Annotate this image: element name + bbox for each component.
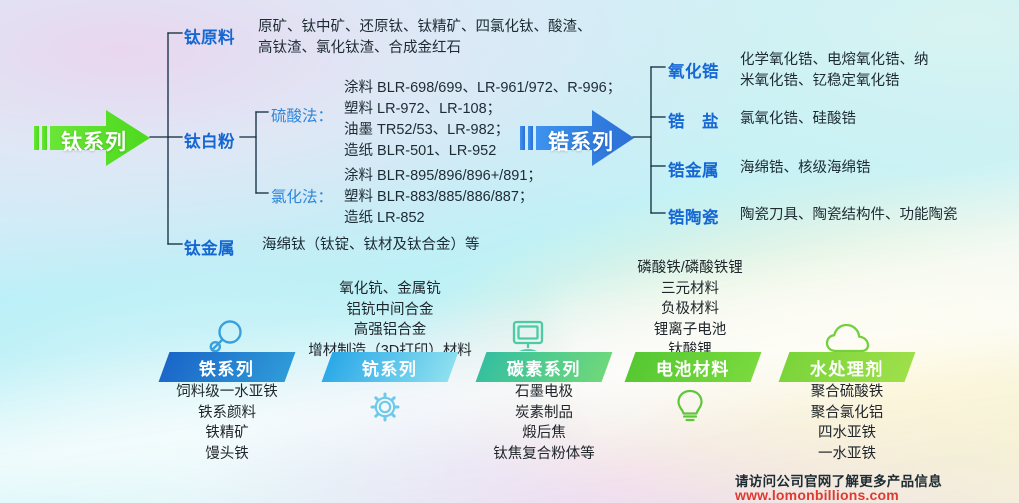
chip-carbon-series[interactable]: 碳素系列: [476, 352, 613, 382]
branch-label-zirconium-ceramics: 锆陶瓷: [668, 204, 719, 228]
branch-label-zirconium-metal: 锆金属: [668, 157, 719, 181]
list-item: 聚合氯化铝: [772, 403, 922, 424]
branch-text-titanium-raw-line2: 高钛渣、氯化钛渣、合成金红石: [258, 38, 461, 58]
branch-label-zirconia: 氧化锆: [668, 58, 719, 82]
list-item: 氧化钪、金属钪: [270, 279, 510, 300]
method-sulfate-line4: 造纸 BLR-501、LR-952: [344, 141, 496, 161]
bulb-icon: [673, 388, 707, 431]
list-item: 煅后焦: [469, 423, 619, 444]
branch-label-zirconium-salt: 锆 盐: [668, 108, 719, 132]
branch-text-zirconia-line2: 米氧化锆、钇稳定氧化锆: [740, 71, 900, 91]
list-item: 铁系颜料: [152, 403, 302, 424]
branch-label-titanium-metal: 钛金属: [184, 235, 235, 259]
method-label-sulfate: 硫酸法：: [271, 104, 333, 126]
list-item: 负极材料: [605, 299, 775, 320]
column-text-water-treatment: 聚合硫酸铁 聚合氯化铝 四水亚铁 一水亚铁: [772, 382, 922, 464]
column-text-iron-series: 饲料级一水亚铁 铁系颜料 铁精矿 馒头铁: [152, 382, 302, 464]
list-item: 馒头铁: [152, 444, 302, 465]
list-item: 磷酸铁/磷酸铁锂: [605, 258, 775, 279]
branch-label-titanium-dioxide: 钛白粉: [184, 128, 235, 152]
list-item: 锂离子电池: [605, 320, 775, 341]
column-text-carbon-series: 石墨电极 炭素制品 煅后焦 钛焦复合粉体等: [469, 382, 619, 464]
chip-iron-series-label: 铁系列: [199, 355, 255, 380]
chip-scandium-series[interactable]: 钪系列: [322, 352, 459, 382]
list-item: 钛焦复合粉体等: [469, 444, 619, 465]
branch-text-zirconia-line1: 化学氧化锆、电熔氧化锆、纳: [740, 50, 929, 70]
chip-water-treatment[interactable]: 水处理剂: [779, 352, 916, 382]
list-item: 四水亚铁: [772, 423, 922, 444]
column-text-battery-materials-above: 磷酸铁/磷酸铁锂 三元材料 负极材料 锂离子电池 钛酸锂: [605, 258, 775, 361]
method-label-chloride: 氯化法：: [271, 185, 333, 207]
chip-scandium-series-label: 钪系列: [362, 355, 418, 380]
list-item: 一水亚铁: [772, 444, 922, 465]
list-item: 聚合硫酸铁: [772, 382, 922, 403]
list-item: 高强铝合金: [270, 320, 510, 341]
branch-text-zirconium-metal: 海绵锆、核级海绵锆: [740, 158, 871, 178]
chip-water-treatment-label: 水处理剂: [810, 355, 884, 380]
list-item: 饲料级一水亚铁: [152, 382, 302, 403]
chip-battery-materials-label: 电池材料: [656, 355, 730, 380]
method-sulfate-line2: 塑料 LR-972、LR-108；: [344, 99, 501, 119]
footer-website-url[interactable]: www.lomonbillions.com: [735, 487, 899, 503]
branch-text-titanium-metal: 海绵钛（钛锭、钛材及钛合金）等: [262, 235, 480, 255]
method-chloride-line1: 涂料 BLR-895/896/896+/891；: [344, 166, 542, 186]
gear-icon: [366, 388, 404, 431]
method-chloride-line2: 塑料 BLR-883/885/886/887；: [344, 187, 533, 207]
branch-text-zirconium-salt: 氯氧化锆、硅酸锆: [740, 109, 856, 129]
list-item: 石墨电极: [469, 382, 619, 403]
list-item: 炭素制品: [469, 403, 619, 424]
branch-label-titanium-raw: 钛原料: [184, 24, 235, 48]
list-item: 三元材料: [605, 279, 775, 300]
chip-carbon-series-label: 碳素系列: [507, 355, 581, 380]
zirconium-series-arrow-label: 锆系列: [548, 126, 614, 156]
method-sulfate-line3: 油墨 TR52/53、LR-982；: [344, 120, 509, 140]
list-item: 铁精矿: [152, 423, 302, 444]
list-item: 铝钪中间合金: [270, 300, 510, 321]
chip-battery-materials[interactable]: 电池材料: [625, 352, 762, 382]
branch-text-titanium-raw-line1: 原矿、钛中矿、还原钛、钛精矿、四氯化钛、酸渣、: [258, 17, 592, 37]
method-sulfate-line1: 涂料 BLR-698/699、LR-961/972、R-996；: [344, 78, 621, 98]
method-chloride-line3: 造纸 LR-852: [344, 208, 425, 228]
branch-text-zirconium-ceramics: 陶瓷刀具、陶瓷结构件、功能陶瓷: [740, 205, 958, 225]
column-text-scandium-series-above: 氧化钪、金属钪 铝钪中间合金 高强铝合金 增材制造（3D打印）材料: [270, 279, 510, 361]
titanium-series-arrow-label: 钛系列: [61, 126, 127, 156]
